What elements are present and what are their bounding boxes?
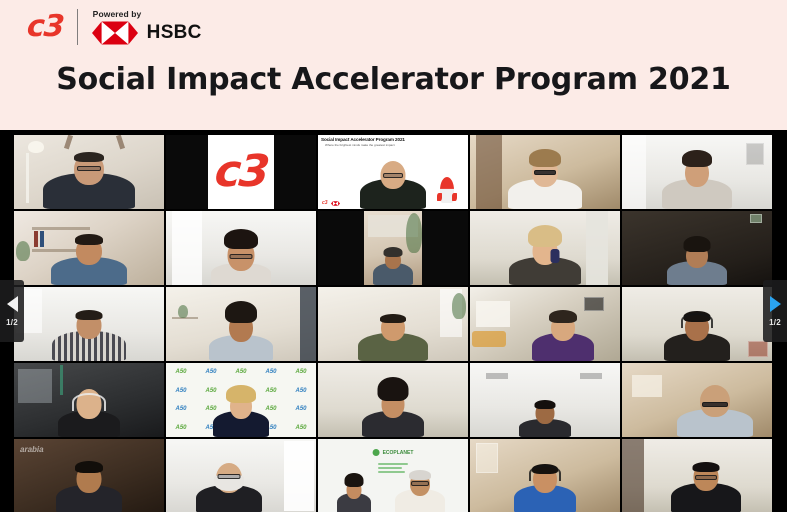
shared-slide-footer: c3 — [322, 200, 340, 206]
participant-tile[interactable] — [318, 211, 468, 285]
backdrop-logo: A50 — [265, 369, 276, 375]
participant-tile[interactable] — [470, 439, 620, 512]
participant-tile[interactable] — [622, 211, 772, 285]
shared-slide-title: Social Impact Accelerator Program 2021 — [321, 137, 465, 142]
participant-tile-active-speaker[interactable] — [470, 135, 620, 209]
backdrop-logo: A50 — [295, 388, 306, 394]
slide-c3-logo: c3 — [322, 200, 328, 206]
sponsor-block: Powered by HSBC — [92, 9, 202, 45]
page-title: Social Impact Accelerator Program 2021 — [0, 62, 787, 97]
page-header: c3 Powered by HSBC Social Impact Acceler… — [0, 0, 787, 130]
video-call-stage: c3 Social Impact Accelerator Program 202… — [0, 130, 787, 512]
rocket-icon — [440, 177, 454, 203]
backdrop-logo: A50 — [295, 369, 306, 375]
participant-tile[interactable] — [622, 135, 772, 209]
backdrop-logo: A50 — [175, 369, 186, 375]
participant-tile[interactable] — [166, 211, 316, 285]
participant-tile[interactable] — [318, 363, 468, 437]
brand-bar: c3 Powered by HSBC — [27, 6, 202, 48]
participant-tile[interactable] — [622, 287, 772, 361]
hsbc-wordmark: HSBC — [147, 22, 202, 44]
participant-tile-screenshare[interactable]: Social Impact Accelerator Program 2021 W… — [318, 135, 468, 209]
participant-tile[interactable] — [14, 287, 164, 361]
participant-tile[interactable]: arabia — [14, 439, 164, 512]
participant-grid: c3 Social Impact Accelerator Program 202… — [14, 135, 773, 512]
chevron-right-icon — [770, 296, 781, 312]
page-indicator-left: 1/2 — [6, 318, 18, 327]
participant-tile[interactable] — [622, 363, 772, 437]
participant-tile[interactable]: c3 — [166, 135, 316, 209]
slide-hsbc-icon — [331, 201, 340, 206]
participant-tile[interactable] — [14, 135, 164, 209]
backdrop-logo: A50 — [295, 406, 306, 412]
participant-tile[interactable] — [318, 287, 468, 361]
backdrop-logo: A50 — [235, 369, 246, 375]
powered-by-label: Powered by — [93, 9, 202, 19]
c3-logo-large: c3 — [213, 150, 270, 194]
page-indicator-right: 1/2 — [769, 318, 781, 327]
participant-tile[interactable] — [470, 287, 620, 361]
backdrop-logo: A50 — [205, 369, 216, 375]
participant-tile[interactable]: A50 A50 A50 A50 A50 A50 A50 A50 A50 A50 … — [166, 363, 316, 437]
backdrop-logo: A50 — [175, 425, 186, 431]
participant-tile[interactable] — [470, 363, 620, 437]
participant-tile[interactable]: ECOPLANET — [318, 439, 468, 512]
c3-logo: c3 — [26, 12, 78, 42]
participant-tile[interactable] — [14, 211, 164, 285]
shared-slide: Social Impact Accelerator Program 2021 W… — [318, 135, 468, 209]
participant-tile[interactable] — [622, 439, 772, 512]
participant-tile[interactable] — [470, 211, 620, 285]
brand-divider — [77, 9, 78, 45]
participant-tile[interactable] — [166, 287, 316, 361]
c3-logo-tile: c3 — [208, 135, 274, 209]
prev-page-button[interactable]: 1/2 — [0, 280, 24, 342]
backdrop-text: arabia — [20, 445, 44, 454]
backdrop-logo: A50 — [175, 406, 186, 412]
chevron-left-icon — [7, 296, 18, 312]
backdrop-logo: A50 — [175, 388, 186, 394]
banner-logo-icon: ECOPLANET — [373, 449, 414, 456]
backdrop-logo: A50 — [295, 425, 306, 431]
participant-tile[interactable] — [166, 439, 316, 512]
shared-slide-subtitle: Where the brightest minds make the great… — [325, 144, 462, 148]
hsbc-lockup: HSBC — [92, 21, 202, 45]
hsbc-hexagon-icon — [92, 21, 138, 45]
next-page-button[interactable]: 1/2 — [763, 280, 787, 342]
participant-tile[interactable] — [14, 363, 164, 437]
